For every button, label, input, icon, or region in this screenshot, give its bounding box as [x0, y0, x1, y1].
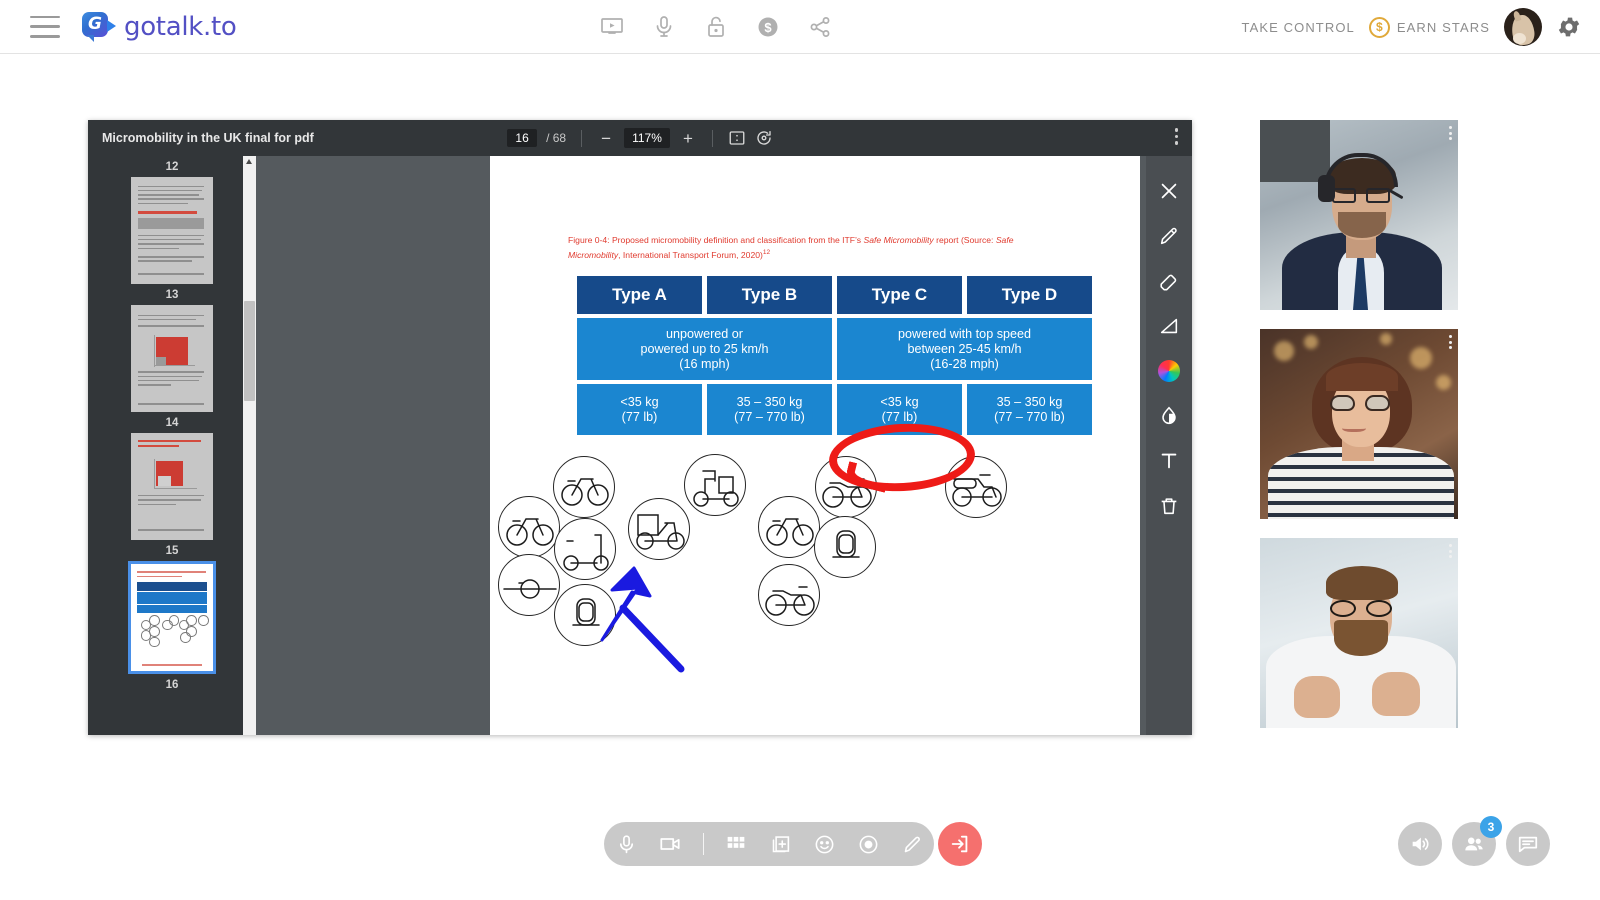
table-header-row: Type A Type B Type C Type D: [577, 276, 1092, 314]
participants-badge: 3: [1480, 816, 1502, 838]
zoom-out-button[interactable]: −: [597, 130, 615, 147]
money-icon[interactable]: $: [756, 15, 780, 39]
camera-icon[interactable]: [659, 833, 682, 856]
cell-line: 35 – 350 kg: [997, 395, 1063, 410]
thumbnail-item[interactable]: 14: [96, 412, 248, 540]
thumbnail-page-13[interactable]: [131, 305, 213, 412]
table-header-cell: Type A: [577, 276, 702, 314]
thumbnail-page-number: 12: [96, 156, 248, 177]
microphone-icon[interactable]: [652, 15, 676, 39]
brand-logo[interactable]: G gotalk.to: [82, 12, 237, 42]
table-speed-row: unpowered or powered up to 25 km/h (16 m…: [577, 318, 1092, 380]
bottom-control-bar: [604, 822, 934, 866]
page-total-label: / 68: [546, 131, 566, 145]
e-bike-icon: [815, 456, 877, 518]
take-control-button[interactable]: TAKE CONTROL: [1242, 20, 1355, 35]
cell-line: (77 lb): [622, 410, 658, 425]
app-root: G gotalk.to: [0, 0, 1600, 900]
top-center-icons: $: [600, 0, 832, 54]
thumbnail-item[interactable]: 13: [96, 284, 248, 412]
record-icon[interactable]: [857, 833, 880, 856]
zoom-in-button[interactable]: +: [679, 130, 697, 147]
cell-line: (77 – 770 lb): [994, 410, 1065, 425]
scrollbar-thumb[interactable]: [244, 301, 255, 401]
table-header-cell: Type C: [837, 276, 962, 314]
shape-icon[interactable]: [1156, 313, 1182, 339]
chat-icon[interactable]: [1506, 822, 1550, 866]
thumbnail-page-12[interactable]: [131, 177, 213, 284]
grid-icon[interactable]: [725, 833, 748, 856]
caption-part: report: [934, 235, 959, 245]
avatar[interactable]: [1504, 8, 1542, 46]
pdf-viewer-window: Micromobility in the UK final for pdf 16…: [88, 120, 1192, 735]
caption-footnote: 12: [763, 249, 770, 256]
text-icon[interactable]: [1156, 448, 1182, 474]
rotate-icon[interactable]: [755, 129, 773, 147]
svg-text:$: $: [764, 20, 772, 35]
cell-line: powered up to 25 km/h: [640, 342, 768, 357]
hamburger-icon[interactable]: [30, 16, 60, 38]
leave-call-button[interactable]: [938, 822, 982, 866]
thumbnail-page-16-selected[interactable]: [128, 561, 216, 674]
vehicle-icon-cloud: [490, 454, 1140, 654]
participants-icon[interactable]: 3: [1452, 822, 1496, 866]
bicycle-icon: [498, 496, 560, 558]
cell-line: unpowered or: [666, 327, 743, 342]
caption-part: , International Transport Forum, 2020): [618, 249, 763, 259]
earn-stars-label: EARN STARS: [1397, 20, 1490, 35]
pdf-more-icon[interactable]: [1175, 128, 1179, 145]
brand-text: gotalk.to: [124, 12, 237, 42]
zoom-level-label[interactable]: 117%: [624, 128, 670, 148]
cell-line: (77 lb): [882, 410, 918, 425]
participant-tile-3[interactable]: [1260, 538, 1458, 728]
trash-icon[interactable]: [1156, 493, 1182, 519]
screen-share-icon[interactable]: [600, 15, 624, 39]
page-number-input[interactable]: 16: [507, 129, 537, 147]
table-weight-cell: <35 kg (77 lb): [837, 384, 962, 435]
cargo-bike-icon: [628, 498, 690, 560]
thumbnail-page-number: 13: [96, 284, 248, 305]
opacity-icon[interactable]: [1156, 403, 1182, 429]
thumbnail-item[interactable]: 15: [96, 540, 248, 674]
cell-line: between 25-45 km/h: [907, 342, 1021, 357]
tile-more-icon[interactable]: [1449, 126, 1452, 140]
e-bike-icon: [758, 564, 820, 626]
tile-more-icon[interactable]: [1449, 544, 1452, 558]
speaker-icon[interactable]: [1398, 822, 1442, 866]
thumbnail-page-number: 15: [96, 540, 248, 561]
participant-video-column: [1260, 120, 1458, 747]
table-weight-cell: 35 – 350 kg (77 – 770 lb): [967, 384, 1092, 435]
coin-icon: $: [1369, 17, 1390, 38]
fit-page-icon[interactable]: [728, 129, 746, 147]
classification-table: Type A Type B Type C Type D unpowered or…: [577, 276, 1092, 435]
emoji-icon[interactable]: [813, 833, 836, 856]
caption-part: (Source:: [961, 235, 996, 245]
table-speed-cell: powered with top speed between 25-45 km/…: [837, 318, 1092, 380]
thumbnail-page-number: 14: [96, 412, 248, 433]
cell-line: <35 kg: [880, 395, 918, 410]
participant-tile-1[interactable]: [1260, 120, 1458, 310]
hoverboard-icon: [554, 584, 616, 646]
cell-line: (77 – 770 lb): [734, 410, 805, 425]
cell-line: 35 – 350 kg: [737, 395, 803, 410]
brand-letter: G: [82, 12, 108, 37]
table-weight-cell: 35 – 350 kg (77 – 770 lb): [707, 384, 832, 435]
caption-part: Figure 0-4: Proposed micromobility defin…: [568, 235, 864, 245]
cell-line: (16 mph): [679, 357, 729, 372]
divider: [703, 833, 704, 855]
caption-italic: Safe Micromobility: [864, 235, 934, 245]
add-content-icon[interactable]: [769, 833, 792, 856]
cell-line: powered with top speed: [898, 327, 1031, 342]
thumbnail-page-number: 16: [96, 674, 248, 695]
bicycle-icon: [553, 456, 615, 518]
thumbnail-rail[interactable]: 12 13: [88, 156, 256, 735]
thumbnail-item[interactable]: 12: [96, 156, 248, 284]
pdf-page-area[interactable]: Figure 0-4: Proposed micromobility defin…: [256, 156, 1192, 735]
top-right-group: TAKE CONTROL $ EARN STARS: [1242, 0, 1582, 54]
gear-icon[interactable]: [1556, 14, 1582, 40]
table-header-cell: Type D: [967, 276, 1092, 314]
participant-tile-2[interactable]: [1260, 329, 1458, 519]
table-header-cell: Type B: [707, 276, 832, 314]
pencil-icon[interactable]: [901, 833, 924, 856]
annotation-toolbar: [1146, 156, 1192, 735]
earn-stars-button[interactable]: $ EARN STARS: [1369, 17, 1490, 38]
thumbnail-item[interactable]: 16: [96, 674, 248, 695]
top-bar: G gotalk.to: [0, 0, 1600, 54]
table-weight-cell: <35 kg (77 lb): [577, 384, 702, 435]
unlock-icon[interactable]: [704, 15, 728, 39]
share-icon[interactable]: [808, 15, 832, 39]
pencil-icon[interactable]: [1156, 223, 1182, 249]
hoverboard-icon: [814, 516, 876, 578]
tile-more-icon[interactable]: [1449, 335, 1452, 349]
table-weight-row: <35 kg (77 lb) 35 – 350 kg (77 – 770 lb)…: [577, 384, 1092, 435]
mobility-scooter-icon: [684, 454, 746, 516]
figure-caption: Figure 0-4: Proposed micromobility defin…: [568, 234, 1068, 261]
thumbnail-page-14[interactable]: [131, 433, 213, 540]
cell-line: <35 kg: [620, 395, 658, 410]
moped-icon: [945, 456, 1007, 518]
color-wheel-icon[interactable]: [1156, 358, 1182, 384]
pdf-title: Micromobility in the UK final for pdf: [102, 131, 314, 145]
bicycle-icon: [758, 496, 820, 558]
pdf-page-16: Figure 0-4: Proposed micromobility defin…: [490, 156, 1140, 735]
one-wheel-icon: [498, 554, 560, 616]
thumbnail-scrollbar[interactable]: [243, 156, 256, 735]
table-speed-cell: unpowered or powered up to 25 km/h (16 m…: [577, 318, 832, 380]
scroll-up-arrow-icon[interactable]: [246, 159, 252, 164]
divider: [712, 130, 713, 147]
pdf-toolbar: Micromobility in the UK final for pdf 16…: [88, 120, 1192, 156]
divider: [581, 130, 582, 147]
close-icon[interactable]: [1156, 178, 1182, 204]
microphone-icon[interactable]: [615, 833, 638, 856]
cell-line: (16-28 mph): [930, 357, 999, 372]
kick-scooter-icon: [554, 518, 616, 580]
eraser-icon[interactable]: [1156, 268, 1182, 294]
brand-mark-icon: G: [82, 12, 112, 42]
